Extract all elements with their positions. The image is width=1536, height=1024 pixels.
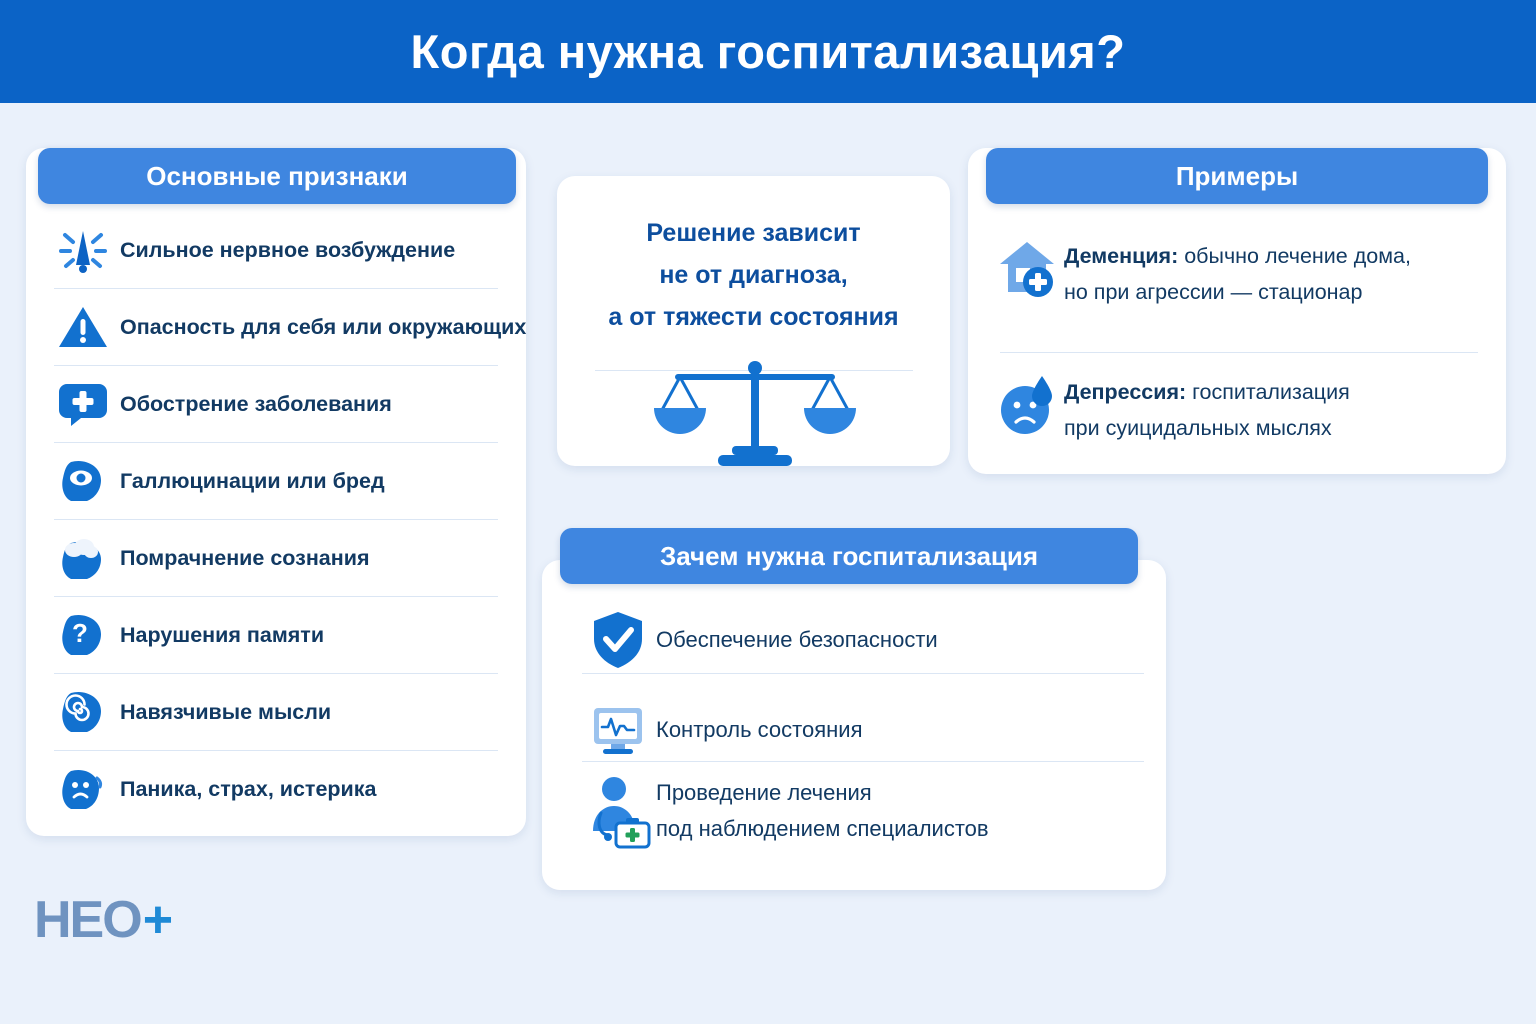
purpose-text: Проведение лечения под наблюдением специ… <box>656 775 989 847</box>
example-bold-label: Депрессия: <box>1064 380 1186 404</box>
list-item: Галлюцинации или бред <box>54 443 498 520</box>
list-item: Депрессия: госпитализация при суицидальн… <box>990 368 1490 446</box>
page-title: Когда нужна госпитализация? <box>411 24 1126 79</box>
balance-scales-icon <box>640 358 870 468</box>
example-rest-1: обычно лечение дома, <box>1178 244 1411 268</box>
example-rest-1: госпитализация <box>1186 380 1350 404</box>
list-item: Помрачнение сознания <box>54 520 498 597</box>
list-item-label: Нарушения памяти <box>120 623 324 648</box>
logo: HEO + <box>34 890 173 950</box>
example-rest-2: но при агрессии — стационар <box>1064 280 1362 304</box>
decision-line-3: а от тяжести состояния <box>557 296 950 338</box>
head-spiral-icon <box>54 684 112 740</box>
monitor-pulse-icon <box>580 695 656 765</box>
list-item: Паника, страх, истерика <box>54 751 498 827</box>
purpose-line-1: Проведение лечения <box>656 780 872 805</box>
list-item: Опасность для себя или окружающих <box>54 289 498 366</box>
purpose-line-2: под наблюдением специалистов <box>656 816 989 841</box>
example-rest-2: при суицидальных мыслях <box>1064 416 1332 440</box>
list-item: Деменция: обычно лечение дома, но при аг… <box>990 232 1490 310</box>
divider <box>1000 352 1478 353</box>
example-bold-label: Деменция: <box>1064 244 1178 268</box>
warning-triangle-icon <box>54 299 112 355</box>
signs-card-title: Основные признаки <box>146 161 408 192</box>
list-item-label: Опасность для себя или окружающих <box>120 315 526 340</box>
medical-cross-badge-icon <box>54 376 112 432</box>
list-item-label: Паника, страх, истерика <box>120 777 377 802</box>
list-item-label: Сильное нервное возбуждение <box>120 238 455 263</box>
purpose-text: Контроль состояния <box>656 712 863 748</box>
examples-card-title: Примеры <box>1176 161 1298 192</box>
examples-card-header: Примеры <box>986 148 1488 204</box>
list-item: Обеспечение безопасности <box>580 605 1150 675</box>
logo-text: HEO <box>34 890 141 950</box>
head-eye-icon <box>54 453 112 509</box>
page-header: Когда нужна госпитализация? <box>0 0 1536 103</box>
sad-face-teardrop-icon <box>990 368 1064 442</box>
list-item-label: Помрачнение сознания <box>120 546 370 571</box>
list-item: Обострение заболевания <box>54 366 498 443</box>
svg-text:?: ? <box>72 618 88 648</box>
purpose-card-title: Зачем нужна госпитализация <box>660 541 1038 572</box>
head-cloud-icon <box>54 530 112 586</box>
logo-plus-icon: + <box>143 890 173 950</box>
shield-check-icon <box>580 605 656 675</box>
head-panic-icon <box>54 761 112 817</box>
purpose-card-header: Зачем нужна госпитализация <box>560 528 1138 584</box>
divider <box>582 673 1144 674</box>
exclamation-burst-icon <box>54 222 112 278</box>
list-item-label: Обострение заболевания <box>120 392 392 417</box>
decision-line-2: не от диагноза, <box>557 254 950 296</box>
list-item: Сильное нервное возбуждение <box>54 212 498 289</box>
decision-text: Решение зависит не от диагноза, а от тяж… <box>557 212 950 338</box>
example-text: Депрессия: госпитализация при суицидальн… <box>1064 368 1350 446</box>
list-item: Проведение лечения под наблюдением специ… <box>580 775 1150 847</box>
list-item: Навязчивые мысли <box>54 674 498 751</box>
list-item-label: Навязчивые мысли <box>120 700 331 725</box>
head-question-icon: ? <box>54 607 112 663</box>
signs-card-header: Основные признаки <box>38 148 516 204</box>
house-medical-icon <box>990 232 1064 306</box>
list-item: ? Нарушения памяти <box>54 597 498 674</box>
signs-list: Сильное нервное возбуждение Опасность дл… <box>26 212 526 827</box>
purpose-text: Обеспечение безопасности <box>656 622 938 658</box>
list-item: Контроль состояния <box>580 695 1150 765</box>
decision-line-1: Решение зависит <box>557 212 950 254</box>
example-text: Деменция: обычно лечение дома, но при аг… <box>1064 232 1411 310</box>
divider <box>582 761 1144 762</box>
list-item-label: Галлюцинации или бред <box>120 469 385 494</box>
doctor-icon <box>580 776 656 846</box>
